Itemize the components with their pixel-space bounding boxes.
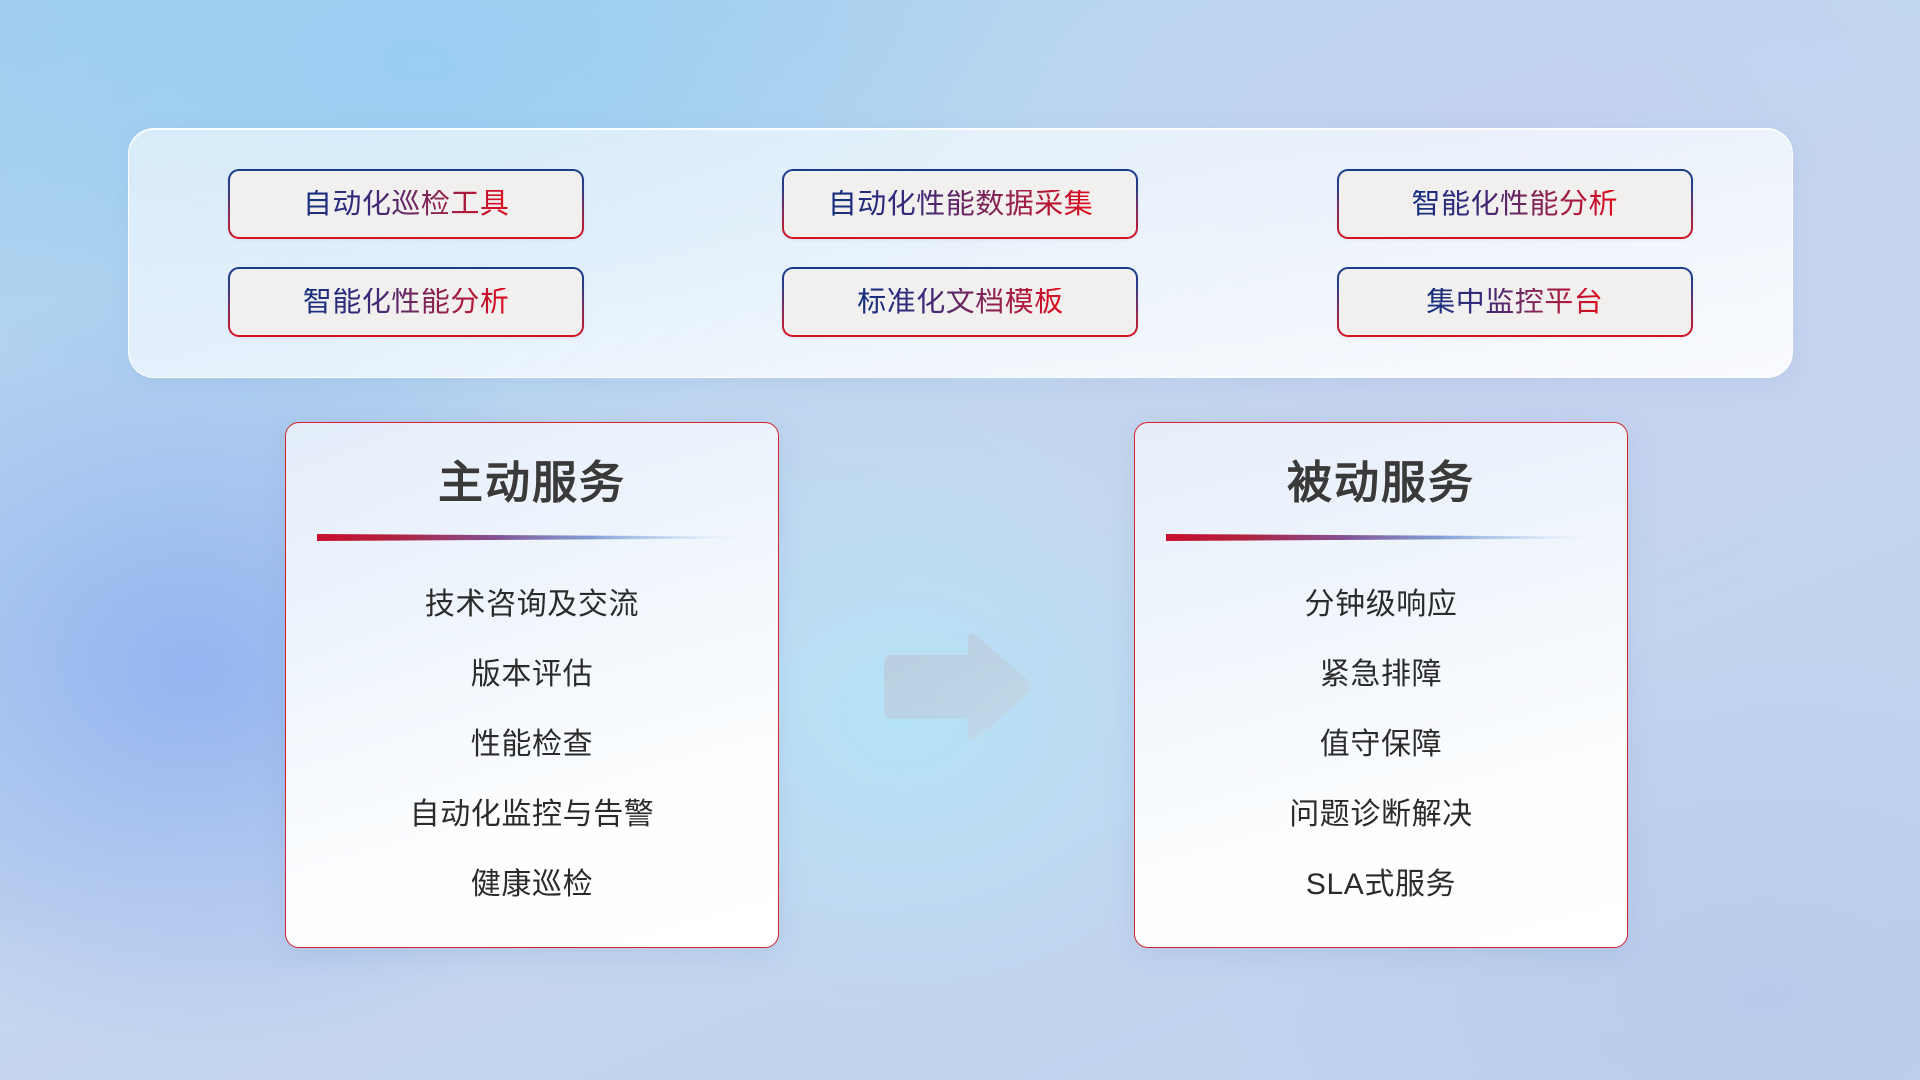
passive-service-card: 被动服务 分钟级响应 紧急排障 值守保障 [1134,422,1628,948]
tool-pill-label: 自动化性能数据采集 [828,190,1094,219]
passive-service-title: 被动服务 [1287,460,1475,505]
gradient-divider [1166,533,1596,542]
active-service-list: 技术咨询及交流 版本评估 性能检查 自动化监控与告警 健康巡检 [286,570,778,920]
passive-service-list: 分钟级响应 紧急排障 值守保障 问题诊断解决 SLA式服务 [1135,570,1627,920]
tool-pill-label: 智能化性能分析 [303,288,510,317]
list-item: 自动化监控与告警 [410,780,655,850]
tool-pill-central-monitoring-platform[interactable]: 集中监控平台 [1337,267,1693,337]
list-item: 值守保障 [1320,710,1442,780]
list-item: SLA式服务 [1306,850,1456,920]
list-item: 技术咨询及交流 [425,570,639,640]
list-item: 问题诊断解决 [1289,780,1473,850]
tool-pill-intelligent-perf-analysis[interactable]: 智能化性能分析 [1337,169,1693,239]
tool-pill-automated-perf-collection[interactable]: 自动化性能数据采集 [782,169,1138,239]
tool-pill-automated-inspection[interactable]: 自动化巡检工具 [228,169,584,239]
tool-pill-standard-doc-template[interactable]: 标准化文档模板 [782,267,1138,337]
list-item: 版本评估 [471,640,593,710]
active-service-card: 主动服务 技术咨询及交流 版本评估 性能检查 [285,422,779,948]
list-item: 紧急排障 [1320,640,1442,710]
tools-panel-row-1: 自动化巡检工具 自动化性能数据采集 智能化性能分析 [129,169,1792,239]
tool-pill-label: 智能化性能分析 [1412,190,1619,219]
list-item: 分钟级响应 [1305,570,1458,640]
list-item: 健康巡检 [471,850,593,920]
tool-pill-label: 标准化文档模板 [857,288,1064,317]
gradient-divider [317,533,747,542]
tools-panel: 自动化巡检工具 自动化性能数据采集 智能化性能分析 智能化性能分析 标准化文档模… [128,128,1793,378]
tools-panel-row-2: 智能化性能分析 标准化文档模板 集中监控平台 [129,267,1792,337]
list-item: 性能检查 [471,710,593,780]
right-arrow-icon [876,628,1036,746]
tool-pill-label: 自动化巡检工具 [303,190,510,219]
active-service-title: 主动服务 [438,460,626,505]
diagram-canvas: 自动化巡检工具 自动化性能数据采集 智能化性能分析 智能化性能分析 标准化文档模… [0,0,1920,1080]
tool-pill-intelligent-perf-analysis-2[interactable]: 智能化性能分析 [228,267,584,337]
tool-pill-label: 集中监控平台 [1426,288,1603,317]
